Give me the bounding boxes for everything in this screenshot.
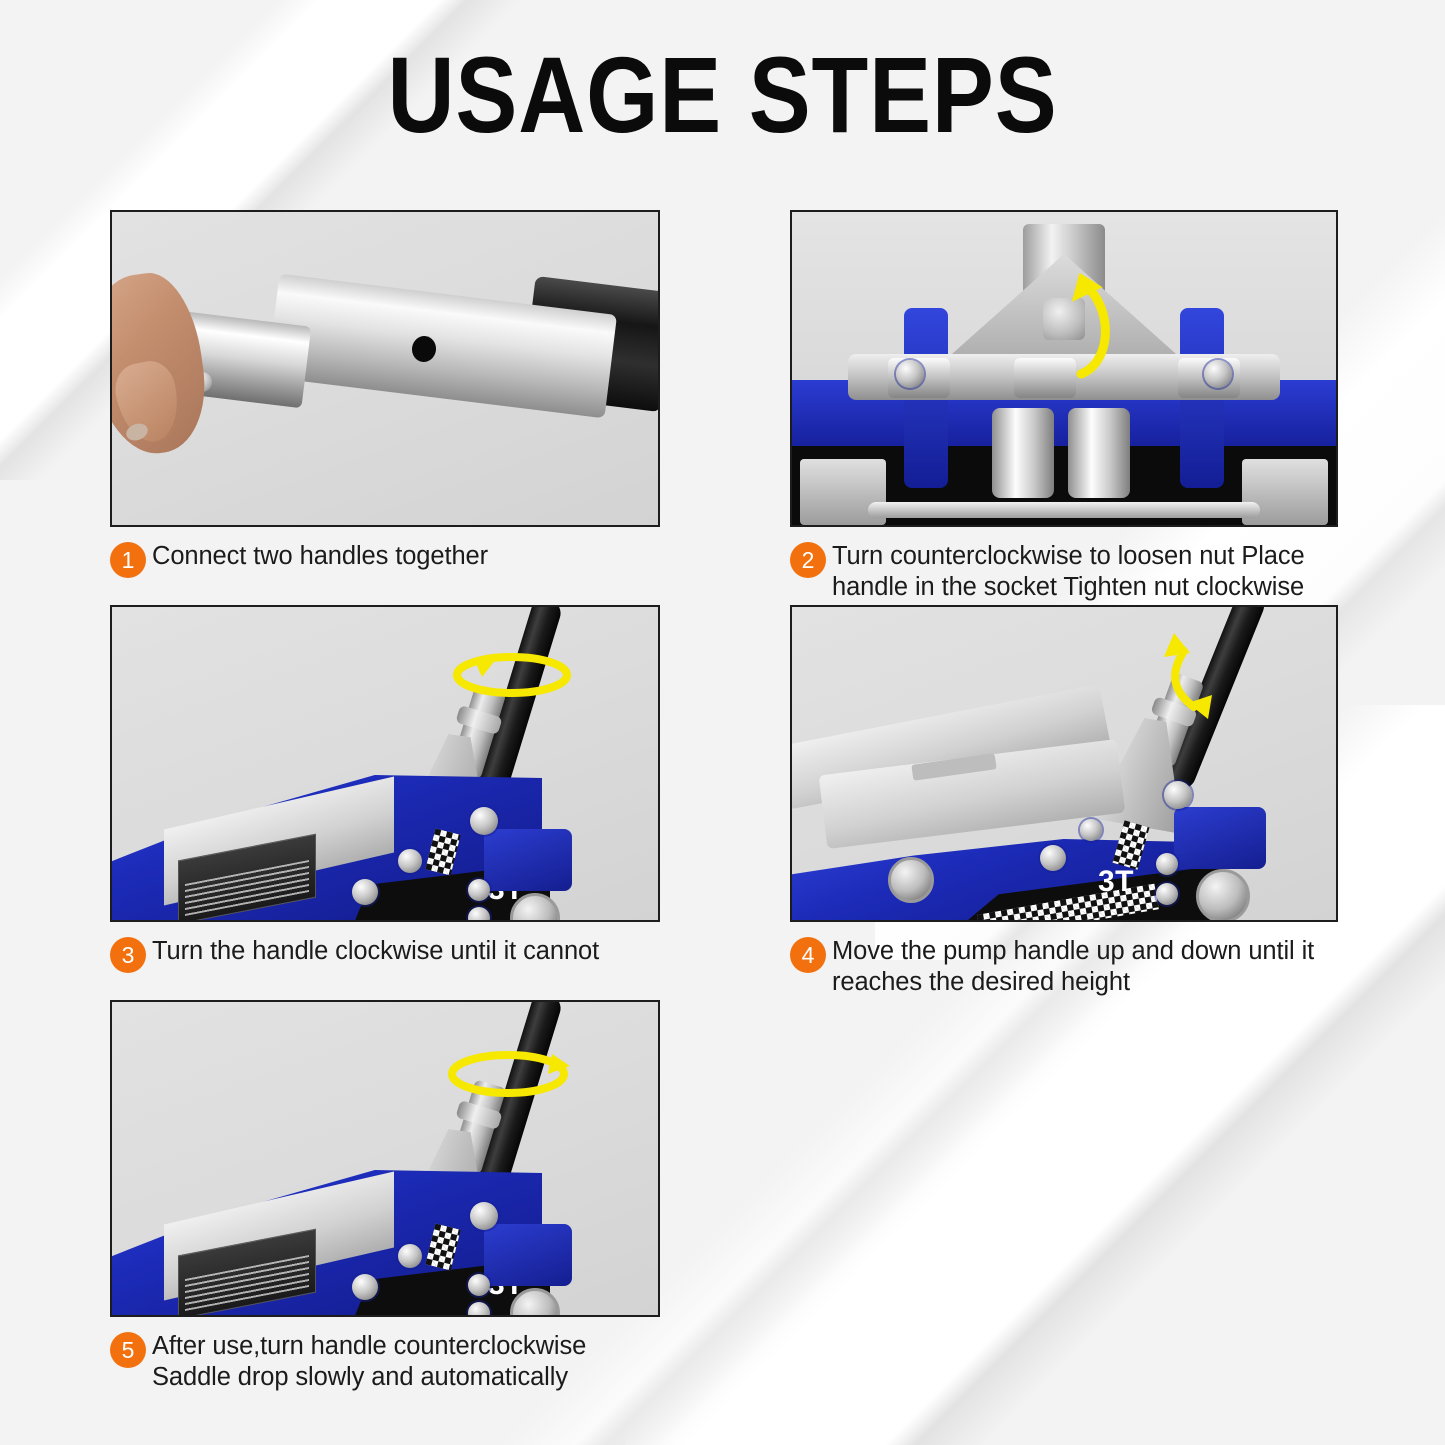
counterclockwise-arrow-icon: [792, 212, 1336, 525]
step-1-badge: 1: [110, 542, 146, 578]
step-4: 3T 4 Move the pump handle up and down un…: [790, 605, 1338, 998]
step-2-badge: 2: [790, 542, 826, 578]
step-5-photo: 3T: [110, 1000, 660, 1317]
step-3-caption: 3 Turn the handle clockwise until it can…: [110, 936, 660, 973]
step-3-photo: 3T: [110, 605, 660, 922]
step-1-photo: [110, 210, 660, 527]
counterclockwise-rotation-arrow-icon: [112, 1002, 658, 1315]
step-2-photo: [790, 210, 1338, 527]
step-4-caption-text: Move the pump handle up and down until i…: [832, 936, 1337, 998]
step-5-badge: 5: [110, 1332, 146, 1368]
step-1: 1 Connect two handles together: [110, 210, 660, 578]
up-down-double-arrow-icon: [792, 607, 1336, 920]
step-4-caption: 4 Move the pump handle up and down until…: [790, 936, 1338, 998]
step-3-badge: 3: [110, 937, 146, 973]
step-1-caption-text: Connect two handles together: [152, 541, 488, 572]
step-5-caption: 5 After use,turn handle counterclockwise…: [110, 1331, 660, 1393]
step-2: 2 Turn counterclockwise to loosen nut Pl…: [790, 210, 1338, 603]
clockwise-rotation-arrow-icon: [112, 607, 658, 920]
step-5: 3T 5 After use,turn handle counterclockw…: [110, 1000, 660, 1393]
step-3-caption-text: Turn the handle clockwise until it canno…: [152, 936, 599, 967]
infographic-page: USAGE STEPS 1 Connect two handles togeth…: [0, 0, 1445, 1445]
step-2-caption: 2 Turn counterclockwise to loosen nut Pl…: [790, 541, 1338, 603]
step-4-photo: 3T: [790, 605, 1338, 922]
step-5-caption-text: After use,turn handle counterclockwise S…: [152, 1331, 660, 1393]
page-title: USAGE STEPS: [101, 38, 1344, 151]
step-2-caption-text: Turn counterclockwise to loosen nut Plac…: [832, 541, 1337, 603]
step-1-caption: 1 Connect two handles together: [110, 541, 660, 578]
step-3: 3T 3 Turn the handle clockwise until it …: [110, 605, 660, 973]
step-4-badge: 4: [790, 937, 826, 973]
